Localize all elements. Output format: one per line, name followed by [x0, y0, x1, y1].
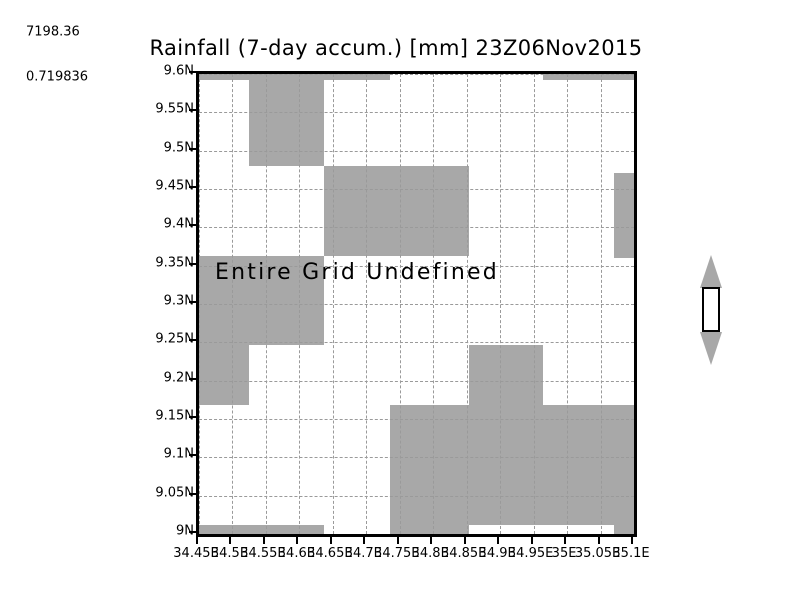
x-axis-tick: [263, 537, 265, 544]
heatmap-cell: [249, 74, 324, 166]
colorbar-high-label: 7198.36: [26, 25, 80, 40]
colorbar-legend: [700, 255, 722, 365]
heatmap-cell: [614, 173, 634, 258]
y-axis-tick-label: 9N: [176, 524, 194, 539]
y-axis-tick-label: 9.2N: [164, 370, 194, 385]
x-axis-tick: [497, 537, 499, 544]
y-axis-tick-label: 9.45N: [155, 179, 194, 194]
y-axis-tick-label: 9.35N: [155, 255, 194, 270]
x-axis-tick: [631, 537, 633, 544]
heatmap-cell: [390, 405, 634, 525]
heatmap-canvas: [199, 74, 634, 534]
y-axis-tick-label: 9.6N: [164, 64, 194, 79]
y-axis-tick-label: 9.5N: [164, 140, 194, 155]
x-axis-tick: [196, 537, 198, 544]
heatmap-cell: [324, 166, 468, 256]
gridline-horizontal: [199, 534, 634, 535]
gridline-vertical: [634, 74, 635, 534]
x-axis-tick: [598, 537, 600, 544]
undefined-grid-annotation: Entire Grid Undefined: [215, 260, 499, 285]
heatmap-cell: [469, 345, 543, 405]
heatmap-cell: [543, 74, 634, 80]
colorbar-arrow-down-icon: [700, 332, 722, 365]
colorbar-swatch: [702, 287, 720, 332]
heatmap-cell: [614, 525, 634, 534]
y-axis-tick-label: 9.1N: [164, 447, 194, 462]
y-axis-tick-label: 9.4N: [164, 217, 194, 232]
x-axis-tick-label: 35E: [552, 546, 577, 561]
x-axis-tick: [229, 537, 231, 544]
x-axis-tick: [430, 537, 432, 544]
plot-area: Entire Grid Undefined: [196, 71, 637, 537]
y-axis-tick-label: 9.15N: [155, 409, 194, 424]
heatmap-cell: [199, 525, 324, 534]
x-axis-tick: [363, 537, 365, 544]
y-axis-tick-label: 9.55N: [155, 102, 194, 117]
heatmap-cell: [390, 525, 468, 534]
x-axis-tick-label: 34.95E: [508, 546, 553, 561]
x-axis-tick: [464, 537, 466, 544]
x-axis-tick-label: 35.1E: [612, 546, 649, 561]
x-axis-tick: [397, 537, 399, 544]
y-axis-tick-label: 9.05N: [155, 485, 194, 500]
x-axis-tick: [330, 537, 332, 544]
x-axis-tick: [531, 537, 533, 544]
y-axis-tick-label: 9.25N: [155, 332, 194, 347]
page-title: Rainfall (7-day accum.) [mm] 23Z06Nov201…: [0, 36, 792, 60]
heatmap-cell: [199, 345, 249, 405]
colorbar-low-label: 0.719836: [26, 70, 88, 85]
y-axis-tick-label: 9.3N: [164, 294, 194, 309]
x-axis-tick: [296, 537, 298, 544]
x-axis-tick: [564, 537, 566, 544]
colorbar-arrow-up-icon: [700, 255, 722, 288]
